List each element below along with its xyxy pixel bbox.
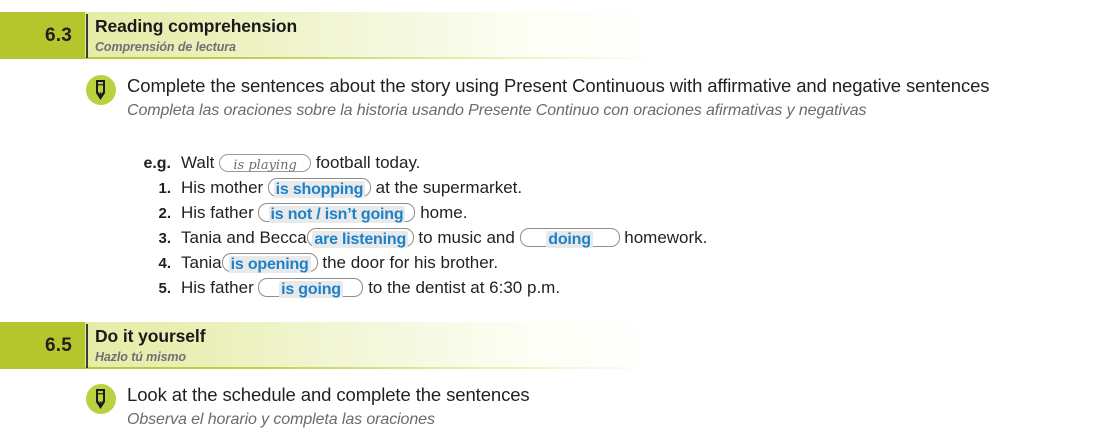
header-underline [0, 57, 660, 59]
sentence-text-after: at the supermarket. [371, 178, 522, 198]
sentence-text-before: Tania [181, 253, 222, 273]
answer-text: is shopping [274, 181, 366, 198]
section-header-text: Reading comprehension Comprensión de lec… [95, 15, 297, 56]
exercise-row: e.g. Walt is playing football today. [131, 153, 707, 177]
answer-blank[interactable]: are listening [307, 228, 414, 247]
answer-blank[interactable]: is shopping [268, 178, 371, 197]
section-header-text: Do it yourself Hazlo tú mismo [95, 325, 205, 366]
exercise-row: 2. His father is not / isn’t going home. [131, 202, 707, 227]
sentence-text-before: Tania and Becca [181, 228, 307, 248]
exercise-row: 4. Tania is opening the door for his bro… [131, 252, 707, 277]
pencil-icon [86, 384, 116, 414]
answer-blank[interactable]: is opening [222, 253, 318, 272]
exercise-body: Tania is opening the door for his brothe… [181, 252, 498, 273]
exercise-body: His father is not / isn’t going home. [181, 202, 467, 223]
instruction-text: Complete the sentences about the story u… [127, 73, 989, 123]
answer-text-secondary: doing [546, 231, 593, 248]
answer-blank-secondary[interactable]: doing [520, 228, 620, 247]
section-title: Do it yourself [95, 325, 205, 348]
sentence-text-middle: to music and [414, 228, 520, 248]
answer-text: are listening [312, 231, 408, 248]
exercise-body: Walt is playing football today. [181, 153, 420, 173]
section-header-6-5: 6.5 Do it yourself Hazlo tú mismo [0, 322, 1100, 369]
answer-text: is going [279, 281, 343, 298]
section-subtitle: Comprensión de lectura [95, 38, 297, 56]
answer-text: is opening [229, 256, 311, 273]
section-number: 6.3 [45, 25, 72, 47]
instruction-block-6-5: Look at the schedule and complete the se… [86, 382, 530, 432]
exercise-body: His mother is shopping at the supermarke… [181, 177, 522, 198]
pencil-icon-glyph [93, 79, 109, 102]
sentence-text-after: homework. [620, 228, 708, 248]
sentence-text-before: Walt [181, 153, 219, 173]
answer-blank[interactable]: is not / isn’t going [258, 203, 415, 222]
sentence-text-after: to the dentist at 6:30 p.m. [363, 278, 560, 298]
sentence-text-before: His father [181, 278, 258, 298]
section-number: 6.5 [45, 335, 72, 357]
header-underline [0, 367, 660, 369]
section-number-block: 6.5 [0, 322, 85, 369]
sentence-text-before: His mother [181, 178, 268, 198]
exercise-marker: 3. [131, 230, 181, 247]
instruction-english: Complete the sentences about the story u… [127, 73, 989, 98]
answer-text: is playing [233, 158, 296, 173]
answer-text: is not / isn’t going [269, 206, 406, 223]
instruction-block-6-3: Complete the sentences about the story u… [86, 73, 989, 123]
exercise-marker: e.g. [131, 155, 181, 173]
section-subtitle: Hazlo tú mismo [95, 348, 205, 366]
exercise-body: Tania and Becca are listening to music a… [181, 227, 707, 248]
exercise-body: His father is going to the dentist at 6:… [181, 277, 560, 298]
exercise-row: 3. Tania and Becca are listening to musi… [131, 227, 707, 252]
instruction-spanish: Completa las oraciones sobre la historia… [127, 98, 989, 123]
header-divider [86, 324, 88, 368]
answer-blank[interactable]: is playing [219, 154, 311, 172]
instruction-text: Look at the schedule and complete the se… [127, 382, 530, 432]
exercise-marker: 1. [131, 180, 181, 197]
pencil-icon-glyph [93, 388, 109, 411]
exercise-row: 5. His father is going to the dentist at… [131, 277, 707, 302]
sentence-text-after: the door for his brother. [318, 253, 499, 273]
section-number-block: 6.3 [0, 12, 85, 59]
instruction-spanish: Observa el horario y completa las oracio… [127, 407, 530, 432]
section-header-6-3: 6.3 Reading comprehension Comprensión de… [0, 12, 1100, 59]
section-title: Reading comprehension [95, 15, 297, 38]
exercise-list: e.g. Walt is playing football today. 1. … [131, 153, 707, 302]
exercise-marker: 5. [131, 280, 181, 297]
sentence-text-after: football today. [311, 153, 420, 173]
exercise-marker: 2. [131, 205, 181, 222]
instruction-english: Look at the schedule and complete the se… [127, 382, 530, 407]
answer-blank[interactable]: is going [258, 278, 363, 297]
pencil-icon [86, 75, 116, 105]
exercise-marker: 4. [131, 255, 181, 272]
sentence-text-before: His father [181, 203, 258, 223]
sentence-text-after: home. [415, 203, 467, 223]
exercise-row: 1. His mother is shopping at the superma… [131, 177, 707, 202]
header-divider [86, 14, 88, 58]
